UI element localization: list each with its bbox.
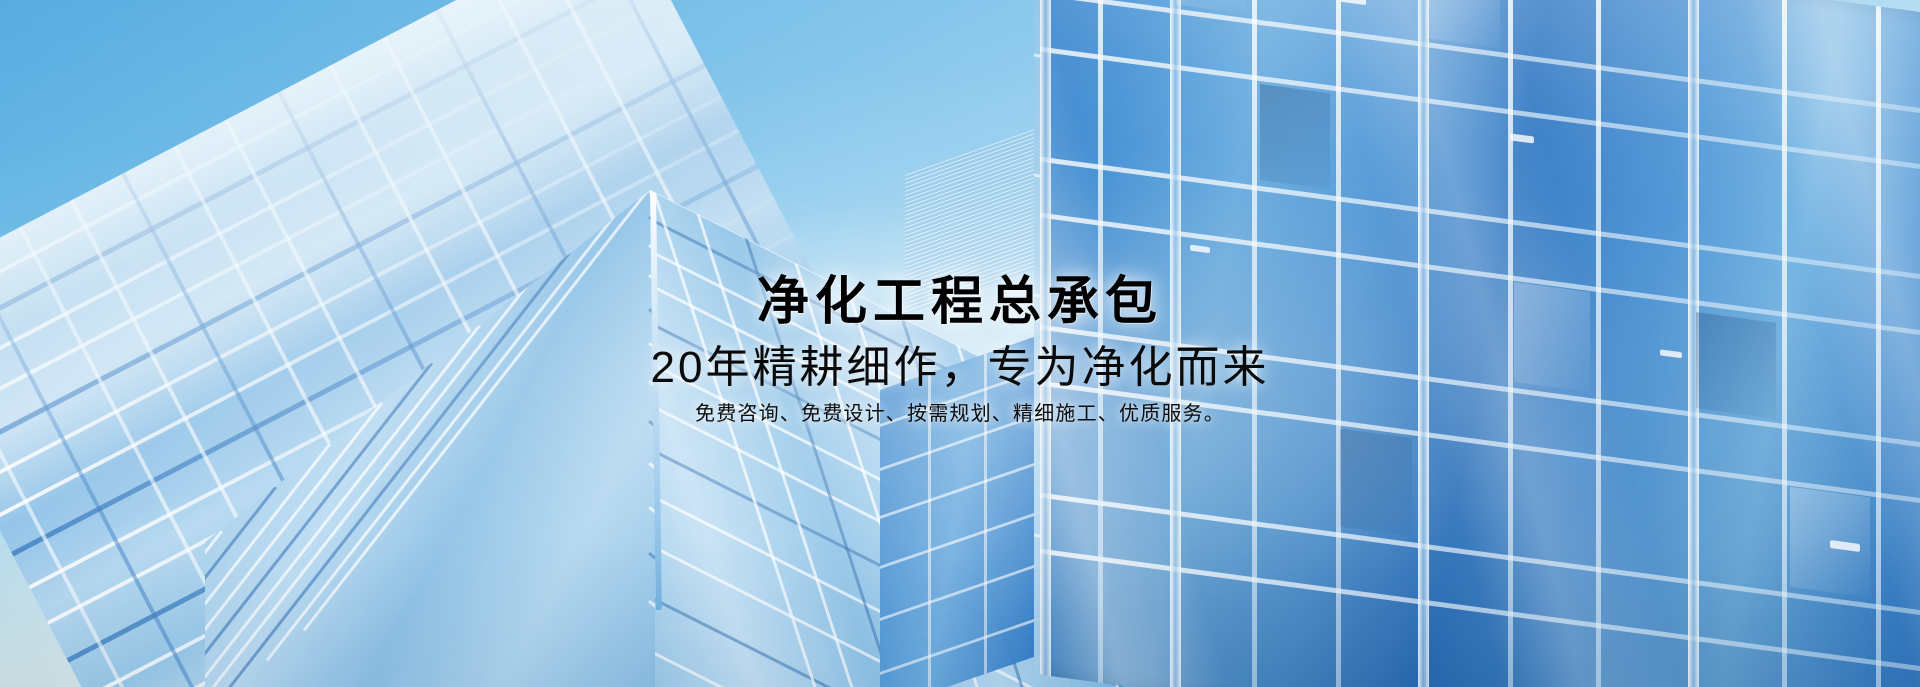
- hero-banner: 净化工程总承包 20年精耕细作，专为净化而来 免费咨询、免费设计、按需规划、精细…: [0, 0, 1920, 687]
- banner-headline: 净化工程总承包: [0, 276, 1920, 328]
- banner-subline: 20年精耕细作，专为净化而来: [0, 346, 1920, 390]
- banner-tagline: 免费咨询、免费设计、按需规划、精细施工、优质服务。: [0, 404, 1920, 424]
